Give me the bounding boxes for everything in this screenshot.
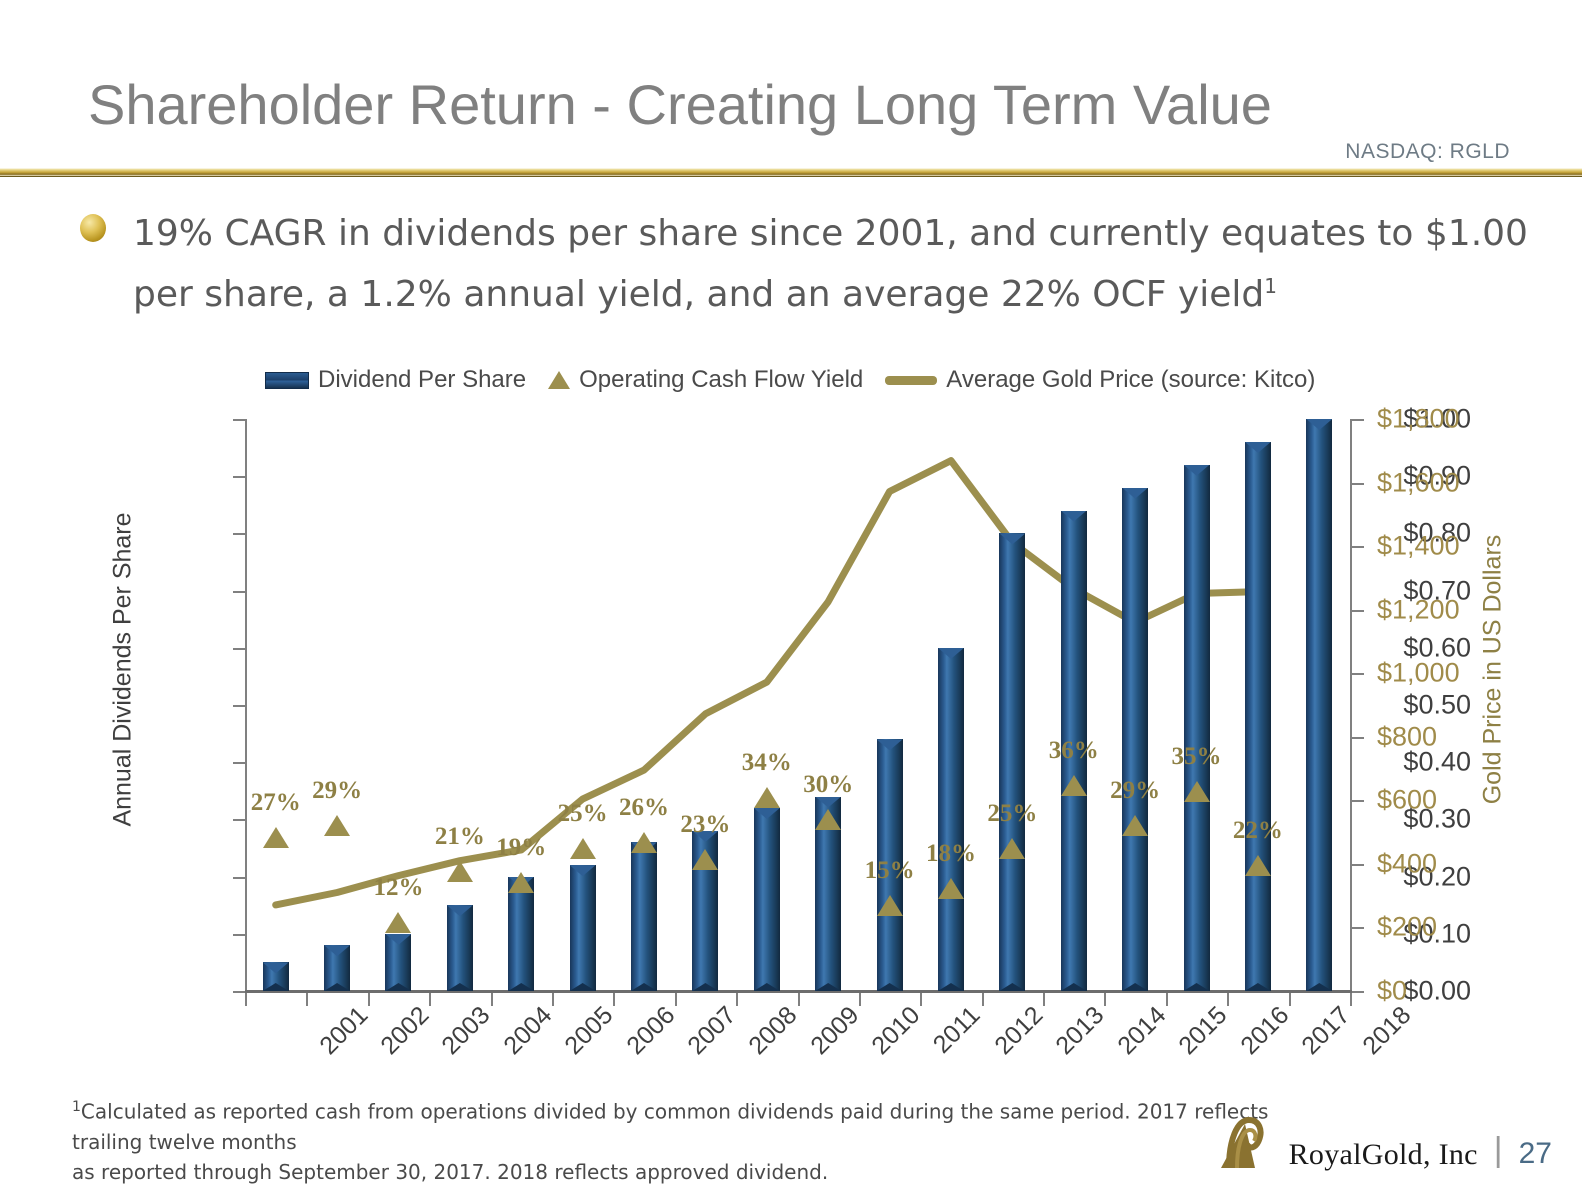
- royal-gold-mark-icon: [1215, 1110, 1277, 1172]
- bullet-line-2: per share, a 1.2% annual yield, and an a…: [133, 274, 1264, 315]
- x-tick: [798, 993, 800, 1006]
- legend-item-dividend-per-share: Dividend Per Share: [265, 366, 526, 394]
- ocf-yield-label-2011: 15%: [865, 857, 915, 885]
- ocf-yield-label-2016: 35%: [1172, 743, 1222, 771]
- ocf-yield-marker-2009[interactable]: [754, 787, 780, 808]
- ocf-yield-marker-2001[interactable]: [263, 827, 289, 848]
- y-axis-title-right: Gold Price in US Dollars: [1479, 450, 1508, 890]
- line-swatch-icon: [885, 376, 937, 385]
- x-tick: [245, 993, 247, 1006]
- triangle-swatch-icon: [548, 371, 570, 389]
- y-tick-label-right: $1,600: [1377, 467, 1460, 498]
- company-logo: RoyalGold, Inc | 27: [1215, 1110, 1552, 1172]
- y-tick-left: [233, 705, 245, 707]
- y-tick-label-right: $1,400: [1377, 531, 1460, 562]
- y-tick-label-right: $200: [1377, 912, 1437, 943]
- x-tick: [1227, 993, 1229, 1006]
- y-tick-label-right: $800: [1377, 721, 1437, 752]
- bar-2009[interactable]: [754, 808, 780, 991]
- ocf-yield-label-2004: 21%: [435, 823, 485, 851]
- x-tick: [1166, 993, 1168, 1006]
- x-tick: [982, 993, 984, 1006]
- x-axis-label-2009: 2009: [805, 1001, 865, 1061]
- x-axis-label-2010: 2010: [866, 1001, 926, 1061]
- footnote-line-2: as reported through September 30, 2017. …: [72, 1160, 828, 1184]
- x-axis-label-2002: 2002: [375, 1001, 435, 1061]
- ocf-yield-label-2013: 25%: [987, 800, 1037, 828]
- bar-2016[interactable]: [1184, 465, 1210, 991]
- y-tick-right: [1352, 864, 1364, 866]
- footnote: 1Calculated as reported cash from operat…: [72, 1092, 1322, 1187]
- ocf-yield-marker-2011[interactable]: [877, 895, 903, 916]
- bullet-line-1: 19% CAGR in dividends per share since 20…: [133, 213, 1528, 254]
- legend-label-dividend: Dividend Per Share: [318, 366, 526, 394]
- page-title: Shareholder Return - Creating Long Term …: [88, 72, 1428, 137]
- bar-2006[interactable]: [570, 865, 596, 991]
- x-tick: [491, 993, 493, 1006]
- x-axis-label-2006: 2006: [621, 1001, 681, 1061]
- y-tick-right: [1352, 546, 1364, 548]
- x-axis-label-2011: 2011: [927, 1001, 986, 1060]
- header-divider: [0, 168, 1582, 177]
- y-tick-right: [1352, 737, 1364, 739]
- y-tick-label-left: $0.00: [1403, 976, 1471, 1007]
- x-tick: [675, 993, 677, 1006]
- y-tick-left: [233, 991, 245, 993]
- x-axis-label-2015: 2015: [1173, 1001, 1233, 1061]
- y-tick-left: [233, 591, 245, 593]
- ocf-yield-label-2015: 29%: [1110, 777, 1160, 805]
- plot-area: 27%29%12%21%19%25%26%23%34%30%15%18%25%3…: [245, 419, 1350, 991]
- footnote-line-1: Calculated as reported cash from operati…: [72, 1100, 1268, 1154]
- y-tick-label-left: $0.50: [1403, 690, 1471, 721]
- slide: Shareholder Return - Creating Long Term …: [0, 0, 1582, 1186]
- x-axis-label-2016: 2016: [1235, 1001, 1295, 1061]
- ocf-yield-marker-2010[interactable]: [815, 809, 841, 830]
- footnote-marker: 1: [72, 1099, 81, 1115]
- y-tick-left: [233, 476, 245, 478]
- ocf-yield-marker-2008[interactable]: [692, 849, 718, 870]
- ocf-yield-marker-2012[interactable]: [938, 878, 964, 899]
- ocf-yield-marker-2005[interactable]: [508, 872, 534, 893]
- bullet-footnote-marker: 1: [1264, 274, 1277, 298]
- y-tick-right: [1352, 419, 1364, 421]
- y-tick-right: [1352, 483, 1364, 485]
- logo-svg: [1215, 1110, 1277, 1172]
- x-tick: [613, 993, 615, 1006]
- ocf-yield-label-2006: 25%: [558, 800, 608, 828]
- bar-2018[interactable]: [1306, 419, 1332, 991]
- y-tick-label-right: $0: [1377, 976, 1407, 1007]
- page-number: 27: [1519, 1137, 1552, 1171]
- bar-2005[interactable]: [508, 877, 534, 991]
- x-axis-label-2013: 2013: [1051, 1001, 1111, 1061]
- y-tick-label-right: $1,000: [1377, 658, 1460, 689]
- x-tick: [552, 993, 554, 1006]
- bar-swatch-icon: [265, 372, 309, 389]
- y-axis-title-left: Annual Dividends Per Share: [109, 450, 138, 890]
- x-axis-label-2003: 2003: [437, 1001, 497, 1061]
- bar-2003[interactable]: [385, 934, 411, 991]
- bar-2001[interactable]: [263, 962, 289, 991]
- legend-label-ocf: Operating Cash Flow Yield: [579, 366, 863, 394]
- bar-2007[interactable]: [631, 842, 657, 991]
- y-tick-left: [233, 533, 245, 535]
- ocf-yield-label-2010: 30%: [803, 771, 853, 799]
- logo-company-name: RoyalGold, Inc: [1289, 1138, 1478, 1172]
- x-tick: [920, 993, 922, 1006]
- y-tick-left: [233, 419, 245, 421]
- x-axis-label-2004: 2004: [498, 1001, 558, 1061]
- ocf-yield-marker-2013[interactable]: [999, 838, 1025, 859]
- x-tick: [306, 993, 308, 1006]
- x-axis-label-2018: 2018: [1358, 1001, 1418, 1061]
- x-tick: [368, 993, 370, 1006]
- bar-2012[interactable]: [938, 648, 964, 991]
- ocf-yield-marker-2015[interactable]: [1122, 815, 1148, 836]
- y-tick-left: [233, 877, 245, 879]
- ocf-yield-label-2017: 22%: [1233, 817, 1283, 845]
- ocf-yield-label-2003: 12%: [373, 874, 423, 902]
- x-axis-label-2001: 2001: [314, 1001, 374, 1061]
- ocf-yield-label-2009: 34%: [742, 749, 792, 777]
- bullet-dot-icon: [80, 214, 106, 242]
- legend-item-ocf-yield: Operating Cash Flow Yield: [548, 366, 863, 394]
- ocf-yield-marker-2003[interactable]: [385, 912, 411, 933]
- logo-divider: |: [1494, 1131, 1503, 1170]
- ticker-symbol: NASDAQ: RGLD: [1345, 140, 1510, 164]
- x-tick: [1104, 993, 1106, 1006]
- ocf-yield-marker-2004[interactable]: [447, 861, 473, 882]
- y-tick-right: [1352, 800, 1364, 802]
- x-axis-label-2005: 2005: [560, 1001, 620, 1061]
- ocf-yield-marker-2017[interactable]: [1245, 855, 1271, 876]
- bar-2004[interactable]: [447, 905, 473, 991]
- bar-2015[interactable]: [1122, 488, 1148, 991]
- y-tick-right: [1352, 610, 1364, 612]
- y-tick-left: [233, 762, 245, 764]
- ocf-yield-label-2012: 18%: [926, 840, 976, 868]
- chart-legend: Dividend Per Share Operating Cash Flow Y…: [265, 363, 1325, 397]
- ocf-yield-marker-2014[interactable]: [1061, 775, 1087, 796]
- shareholder-return-chart: Dividend Per Share Operating Cash Flow Y…: [95, 355, 1495, 1075]
- ocf-yield-label-2008: 23%: [680, 811, 730, 839]
- y-tick-label-right: $1,800: [1377, 404, 1460, 435]
- x-axis-label-2008: 2008: [744, 1001, 804, 1061]
- x-tick: [1289, 993, 1291, 1006]
- x-tick: [1350, 993, 1352, 1006]
- y-tick-right: [1352, 673, 1364, 675]
- bar-2013[interactable]: [999, 533, 1025, 991]
- x-axis-label-2014: 2014: [1112, 1001, 1172, 1061]
- x-tick: [429, 993, 431, 1006]
- y-tick-left: [233, 934, 245, 936]
- ocf-yield-marker-2002[interactable]: [324, 815, 350, 836]
- x-tick: [736, 993, 738, 1006]
- x-axis-label-2017: 2017: [1296, 1001, 1356, 1061]
- y-tick-label-right: $400: [1377, 848, 1437, 879]
- x-tick: [859, 993, 861, 1006]
- ocf-yield-label-2014: 36%: [1049, 737, 1099, 765]
- y-tick-left: [233, 819, 245, 821]
- bullet-text: 19% CAGR in dividends per share since 20…: [133, 208, 1533, 321]
- ocf-yield-label-2002: 29%: [312, 777, 362, 805]
- bar-2017[interactable]: [1245, 442, 1271, 991]
- x-axis-label-2012: 2012: [989, 1001, 1049, 1061]
- ocf-yield-marker-2007[interactable]: [631, 832, 657, 853]
- y-tick-left: [233, 648, 245, 650]
- y-tick-right: [1352, 991, 1364, 993]
- ocf-yield-marker-2016[interactable]: [1184, 781, 1210, 802]
- y-tick-label-right: $1,200: [1377, 594, 1460, 625]
- ocf-yield-label-2005: 19%: [496, 834, 546, 862]
- ocf-yield-marker-2006[interactable]: [570, 838, 596, 859]
- ocf-yield-label-2001: 27%: [251, 789, 301, 817]
- legend-label-gold: Average Gold Price (source: Kitco): [946, 366, 1315, 394]
- legend-item-gold-price: Average Gold Price (source: Kitco): [885, 366, 1315, 394]
- bar-2002[interactable]: [324, 945, 350, 991]
- x-tick: [1043, 993, 1045, 1006]
- y-tick-right: [1352, 927, 1364, 929]
- ocf-yield-label-2007: 26%: [619, 794, 669, 822]
- y-axis-right-line: [1350, 419, 1352, 992]
- y-tick-label-right: $600: [1377, 785, 1437, 816]
- x-axis-label-2007: 2007: [682, 1001, 742, 1061]
